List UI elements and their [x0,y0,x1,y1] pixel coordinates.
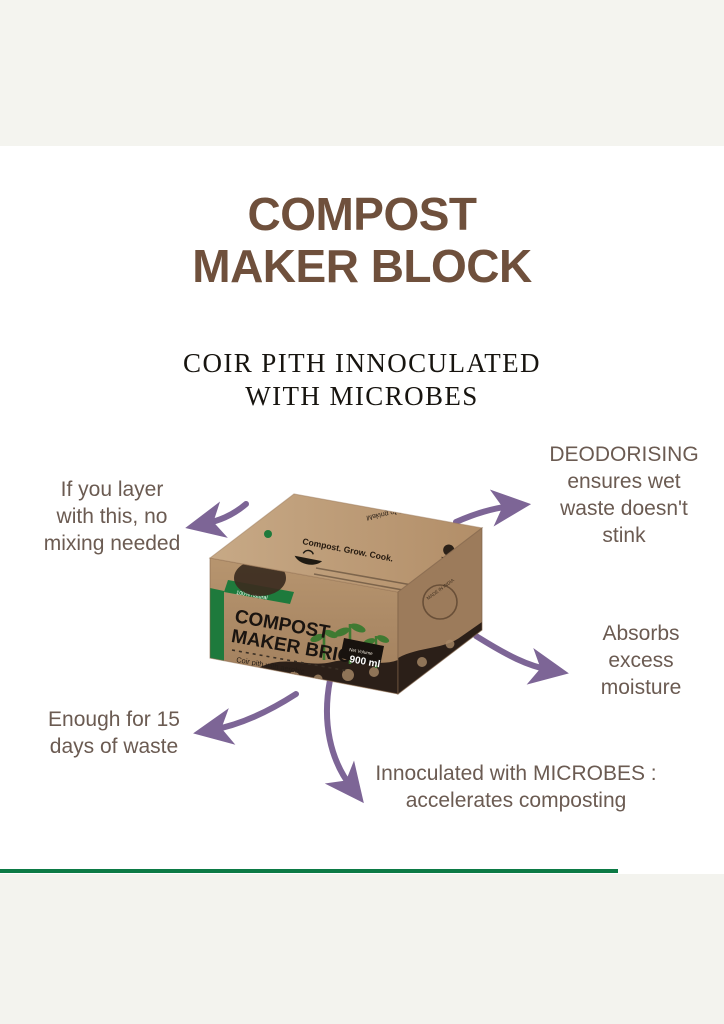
green-divider-rule [0,869,618,873]
page-subtitle-line-1: COIR PITH INNOCULATED [0,347,724,380]
compost-maker-brick-package: 100% natural COMPOST MAKER BRICK Coir pi… [198,472,488,712]
page-title: COMPOST MAKER BLOCK [0,188,724,292]
page-title-line-1: COMPOST [0,188,724,240]
package-spine-stripe [210,588,224,662]
page-subtitle: COIR PITH INNOCULATED WITH MICROBES [0,347,724,413]
page-subtitle-line-2: WITH MICROBES [0,380,724,413]
bottom-band [0,874,724,1024]
product-infographic-page: COMPOST MAKER BLOCK COIR PITH INNOCULATE… [0,0,724,1024]
page-title-line-2: MAKER BLOCK [0,240,724,292]
package-top-green-dot [264,530,272,538]
product-stage: 100% natural COMPOST MAKER BRICK Coir pi… [0,430,724,850]
top-band [0,0,724,146]
